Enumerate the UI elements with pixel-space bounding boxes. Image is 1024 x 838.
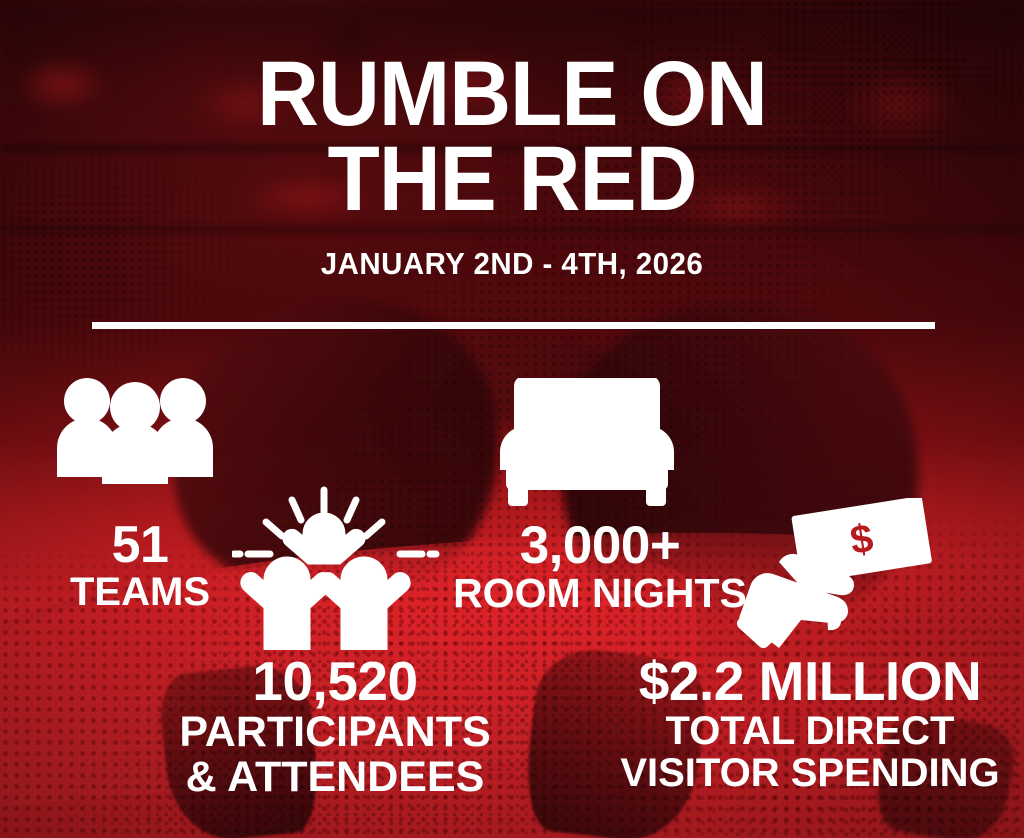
group-of-people-icon <box>50 374 220 484</box>
stat-participants-label-line-1: PARTICIPANTS <box>140 711 530 754</box>
stat-visitor-spending: $2.2 MILLION TOTAL DIRECT VISITOR SPENDI… <box>600 655 1020 793</box>
horizontal-divider <box>92 322 935 329</box>
stat-room-nights-label: ROOM NIGHTS <box>420 573 780 614</box>
stat-participants: 10,520 PARTICIPANTS & ATTENDEES <box>140 655 530 799</box>
stat-participants-label-line-2: & ATTENDEES <box>140 756 530 799</box>
stat-visitor-spending-label-line-2: VISITOR SPENDING <box>600 753 1020 793</box>
infographic-poster: RUMBLE ON THE RED JANUARY 2ND - 4TH, 202… <box>0 0 1024 838</box>
stat-teams-label: TEAMS <box>10 572 270 612</box>
stat-teams: 51 TEAMS <box>10 520 270 612</box>
stat-participants-number: 10,520 <box>140 655 530 709</box>
poster-title: RUMBLE ON THE RED <box>36 52 988 221</box>
stat-room-nights-number: 3,000+ <box>420 520 780 572</box>
stat-room-nights: 3,000+ ROOM NIGHTS <box>420 520 780 614</box>
stat-visitor-spending-number: $2.2 MILLION <box>600 655 1020 709</box>
event-date: JANUARY 2ND - 4TH, 2026 <box>26 246 999 282</box>
stat-teams-number: 51 <box>10 520 270 571</box>
bed-icon <box>492 378 682 508</box>
title-line-2: THE RED <box>36 137 988 222</box>
stat-visitor-spending-label-line-1: TOTAL DIRECT <box>600 711 1020 751</box>
